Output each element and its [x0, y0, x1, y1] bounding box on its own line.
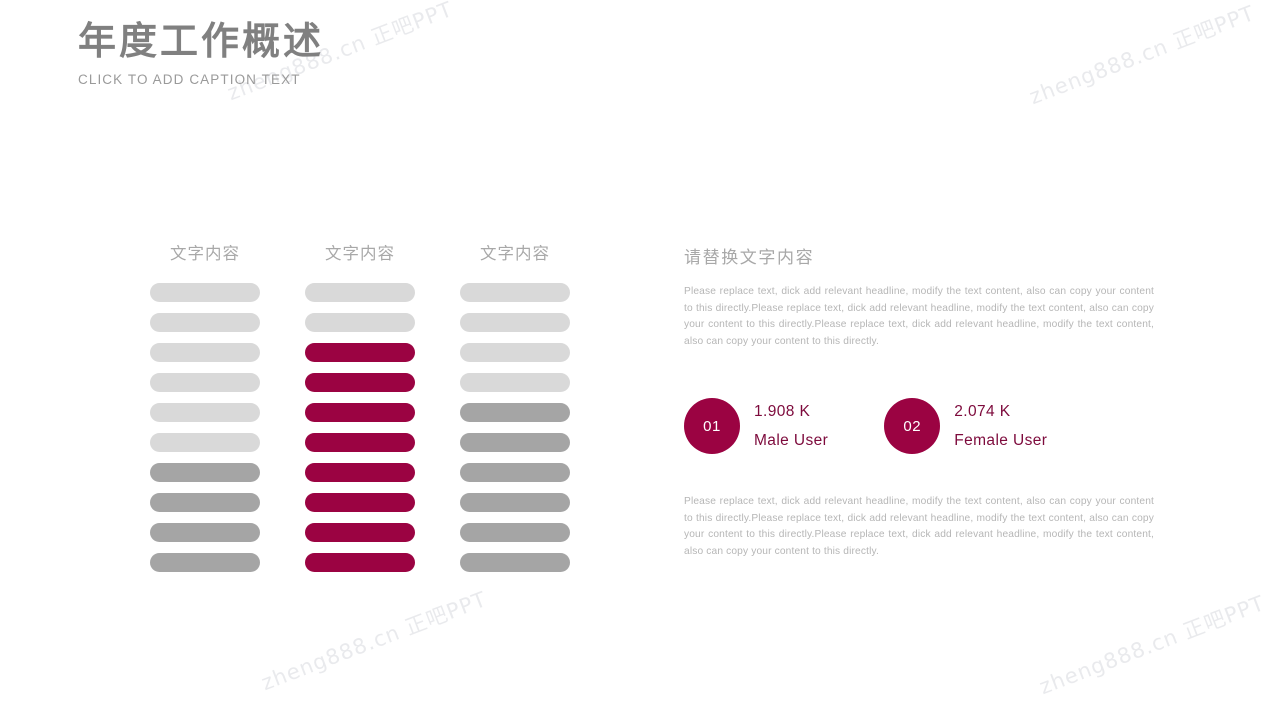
- stat-badge-circle: 02: [884, 398, 940, 454]
- bar-segment-filled: [150, 493, 260, 512]
- bar-segment-filled: [305, 343, 415, 362]
- bar-segment-filled: [305, 463, 415, 482]
- stat-item-02: 02 2.074 K Female User: [884, 398, 1047, 454]
- bar-segment-filled: [150, 523, 260, 542]
- bar-segment-filled: [305, 373, 415, 392]
- watermark: zheng888.cn 正吧PPT: [1035, 587, 1269, 701]
- bar-segment-filled: [305, 403, 415, 422]
- bar-segment-filled: [150, 463, 260, 482]
- bar-segment-filled: [460, 523, 570, 542]
- stat-badge-circle: 01: [684, 398, 740, 454]
- bar-segment-empty: [305, 313, 415, 332]
- bar-column-label: 文字内容: [460, 240, 570, 264]
- bar-segment-filled: [305, 523, 415, 542]
- info-panel: 请替换文字内容 Please replace text, dick add re…: [684, 243, 1154, 560]
- bar-segment-empty: [460, 313, 570, 332]
- bar-stack-1: [150, 283, 260, 572]
- page-subtitle: CLICK TO ADD CAPTION TEXT: [78, 72, 324, 87]
- stats-row: 01 1.908 K Male User 02 2.074 K Female U…: [684, 398, 1154, 454]
- bar-segment-filled: [460, 463, 570, 482]
- panel-paragraph-bottom: Please replace text, dick add relevant h…: [684, 494, 1154, 560]
- bar-column-label: 文字内容: [305, 240, 415, 264]
- watermark: zheng888.cn 正吧PPT: [257, 583, 491, 697]
- panel-paragraph-top: Please replace text, dick add relevant h…: [684, 284, 1154, 350]
- bar-segment-empty: [305, 283, 415, 302]
- bar-column-1: 文字内容: [150, 240, 260, 572]
- stat-text-group: 1.908 K Male User: [754, 403, 828, 450]
- stat-label: Male User: [754, 432, 828, 450]
- bar-segment-empty: [150, 283, 260, 302]
- panel-heading: 请替换文字内容: [684, 243, 1154, 268]
- bar-chart: 文字内容 文字内容 文字内容: [150, 240, 570, 572]
- stat-item-01: 01 1.908 K Male User: [684, 398, 828, 454]
- watermark: zheng888.cn 正吧PPT: [1025, 0, 1259, 111]
- stat-label: Female User: [954, 432, 1047, 450]
- bar-stack-2: [305, 283, 415, 572]
- bar-segment-filled: [460, 493, 570, 512]
- stat-value: 1.908 K: [754, 403, 828, 421]
- slide-header: 年度工作概述 CLICK TO ADD CAPTION TEXT: [78, 18, 324, 87]
- bar-segment-empty: [460, 373, 570, 392]
- bar-column-3: 文字内容: [460, 240, 570, 572]
- bar-segment-empty: [150, 343, 260, 362]
- bar-segment-filled: [305, 553, 415, 572]
- bar-segment-empty: [150, 313, 260, 332]
- bar-segment-filled: [305, 493, 415, 512]
- bar-segment-filled: [460, 403, 570, 422]
- slide-canvas: zheng888.cn 正吧PPT zheng888.cn 正吧PPT zhen…: [0, 0, 1280, 720]
- bar-column-2: 文字内容: [305, 240, 415, 572]
- bar-segment-filled: [460, 553, 570, 572]
- stat-value: 2.074 K: [954, 403, 1047, 421]
- bar-segment-empty: [150, 403, 260, 422]
- bar-segment-empty: [150, 433, 260, 452]
- bar-segment-filled: [305, 433, 415, 452]
- bar-stack-3: [460, 283, 570, 572]
- bar-column-label: 文字内容: [150, 240, 260, 264]
- bar-segment-empty: [460, 343, 570, 362]
- bar-segment-filled: [150, 553, 260, 572]
- bar-segment-empty: [460, 283, 570, 302]
- stat-text-group: 2.074 K Female User: [954, 403, 1047, 450]
- page-title: 年度工作概述: [78, 18, 324, 66]
- bar-segment-filled: [460, 433, 570, 452]
- bar-segment-empty: [150, 373, 260, 392]
